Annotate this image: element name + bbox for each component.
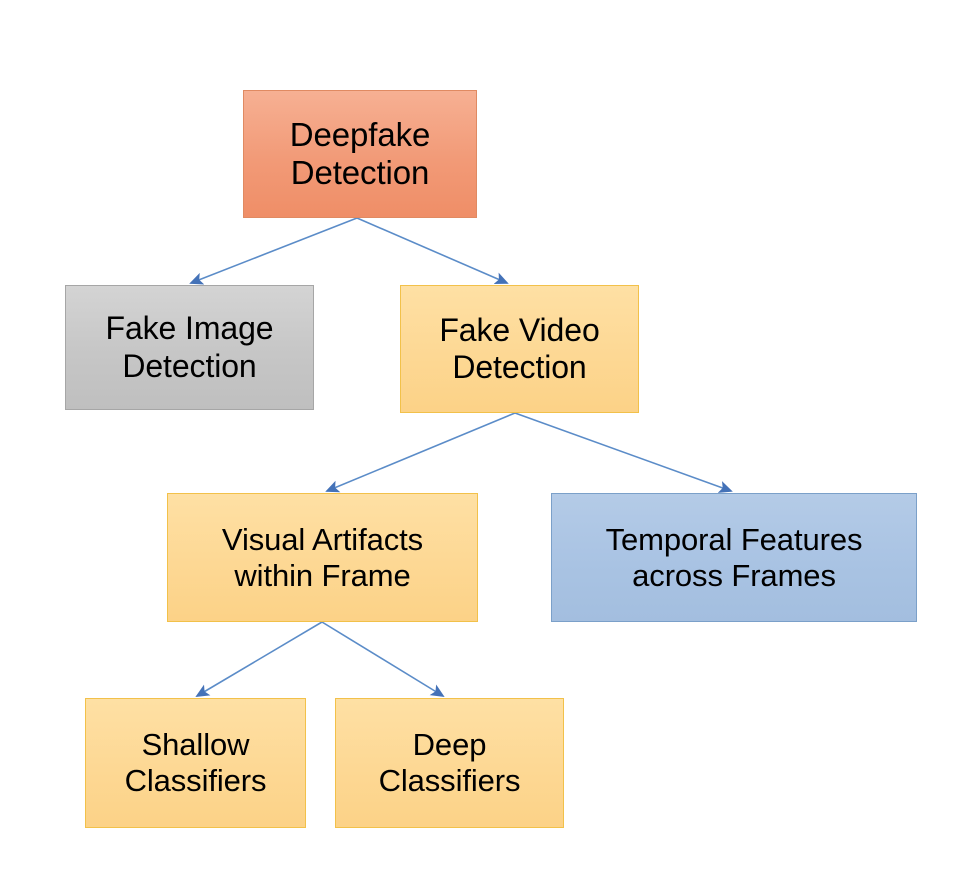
- node-visual-artifacts-within-frame-label: Visual Artifacts within Frame: [168, 522, 477, 594]
- node-visual-artifacts-within-frame[interactable]: Visual Artifacts within Frame: [167, 493, 478, 622]
- node-fake-video-detection-label: Fake Video Detection: [401, 312, 638, 386]
- edge-visual-artifacts-to-deep: [322, 622, 443, 696]
- node-fake-image-detection-label: Fake Image Detection: [66, 310, 313, 384]
- edge-deepfake-to-fake-video: [357, 218, 507, 283]
- diagram-canvas: Deepfake Detection Fake Image Detection …: [0, 0, 957, 875]
- node-shallow-classifiers[interactable]: Shallow Classifiers: [85, 698, 306, 828]
- edge-fake-video-to-temporal-features: [515, 413, 731, 491]
- edge-fake-video-to-visual-artifacts: [327, 413, 515, 491]
- edge-visual-artifacts-to-shallow: [197, 622, 322, 696]
- node-deep-classifiers[interactable]: Deep Classifiers: [335, 698, 564, 828]
- node-temporal-features-across-frames-label: Temporal Features across Frames: [552, 522, 916, 594]
- node-fake-video-detection[interactable]: Fake Video Detection: [400, 285, 639, 413]
- node-deepfake-detection[interactable]: Deepfake Detection: [243, 90, 477, 218]
- node-fake-image-detection[interactable]: Fake Image Detection: [65, 285, 314, 410]
- node-shallow-classifiers-label: Shallow Classifiers: [86, 727, 305, 799]
- node-deepfake-detection-label: Deepfake Detection: [244, 116, 476, 193]
- edge-deepfake-to-fake-image: [191, 218, 357, 283]
- node-temporal-features-across-frames[interactable]: Temporal Features across Frames: [551, 493, 917, 622]
- node-deep-classifiers-label: Deep Classifiers: [336, 727, 563, 799]
